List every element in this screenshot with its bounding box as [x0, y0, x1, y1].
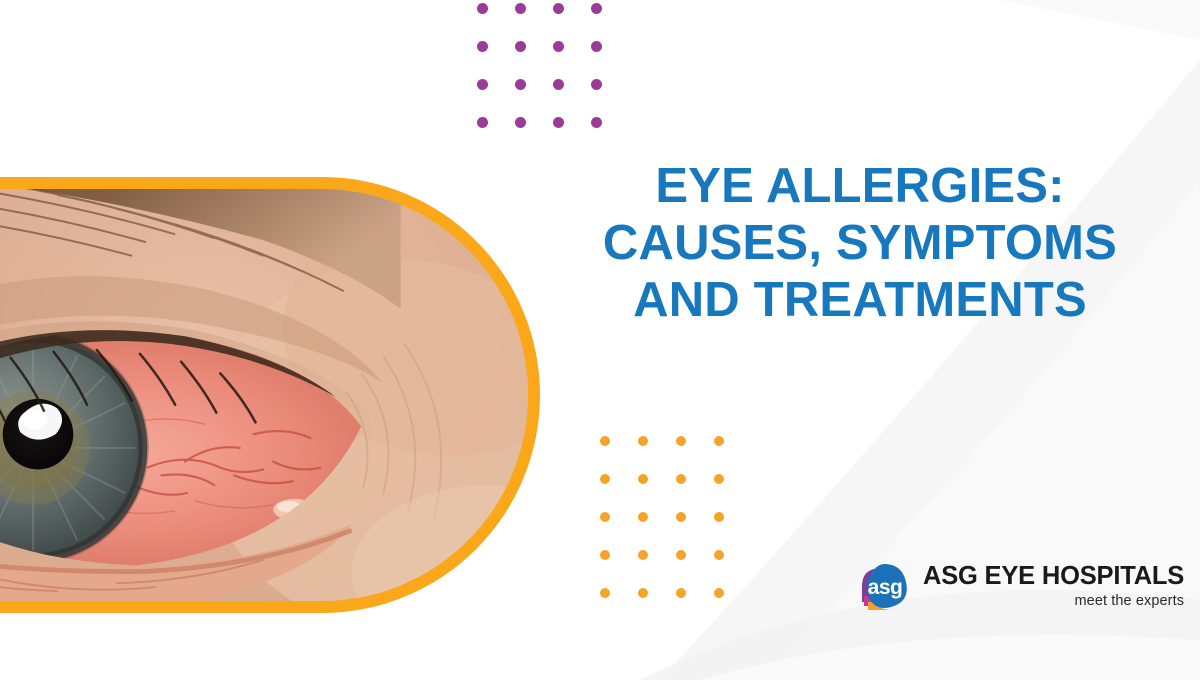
- dot: [553, 3, 564, 14]
- dot: [676, 474, 686, 484]
- dot: [638, 588, 648, 598]
- dot: [714, 588, 724, 598]
- brand-tagline: meet the experts: [1074, 593, 1184, 610]
- dot: [676, 512, 686, 522]
- dot: [676, 550, 686, 560]
- dot: [600, 550, 610, 560]
- brand-name: ASG EYE HOSPITALS: [923, 563, 1184, 590]
- page-title: EYE ALLERGIES: CAUSES, SYMPTOMS AND TREA…: [560, 158, 1160, 328]
- dot: [477, 41, 488, 52]
- dot: [600, 588, 610, 598]
- dot: [515, 3, 526, 14]
- eye-photo-panel: [0, 177, 540, 613]
- dot: [515, 117, 526, 128]
- headline-line-1: EYE ALLERGIES:: [560, 158, 1160, 215]
- orange-dot-grid-decoration: [600, 436, 752, 626]
- eye-photo-image: [0, 189, 528, 601]
- dot: [591, 79, 602, 90]
- brand-logo-text: ASG EYE HOSPITALS meet the experts: [923, 563, 1184, 610]
- dot: [638, 550, 648, 560]
- purple-dot-grid-decoration: [477, 3, 629, 155]
- dot: [553, 79, 564, 90]
- headline-line-3: AND TREATMENTS: [560, 272, 1160, 329]
- dot: [553, 41, 564, 52]
- dot: [638, 436, 648, 446]
- dot: [477, 117, 488, 128]
- asg-logo-mark-icon: asg: [852, 556, 914, 618]
- dot: [591, 117, 602, 128]
- dot: [600, 512, 610, 522]
- dot: [591, 41, 602, 52]
- dot: [515, 79, 526, 90]
- dot: [600, 474, 610, 484]
- dot: [638, 512, 648, 522]
- dot: [714, 550, 724, 560]
- dot: [600, 436, 610, 446]
- dot: [676, 588, 686, 598]
- dot: [591, 3, 602, 14]
- dot: [515, 41, 526, 52]
- dot: [553, 117, 564, 128]
- dot: [714, 512, 724, 522]
- brand-logo-lockup[interactable]: asg ASG EYE HOSPITALS meet the experts: [852, 556, 1184, 618]
- dot: [714, 436, 724, 446]
- dot: [714, 474, 724, 484]
- banner-root: EYE ALLERGIES: CAUSES, SYMPTOMS AND TREA…: [0, 0, 1200, 680]
- dot: [477, 79, 488, 90]
- dot: [676, 436, 686, 446]
- svg-text:asg: asg: [868, 576, 903, 599]
- dot: [477, 3, 488, 14]
- dot: [638, 474, 648, 484]
- headline-line-2: CAUSES, SYMPTOMS: [560, 215, 1160, 272]
